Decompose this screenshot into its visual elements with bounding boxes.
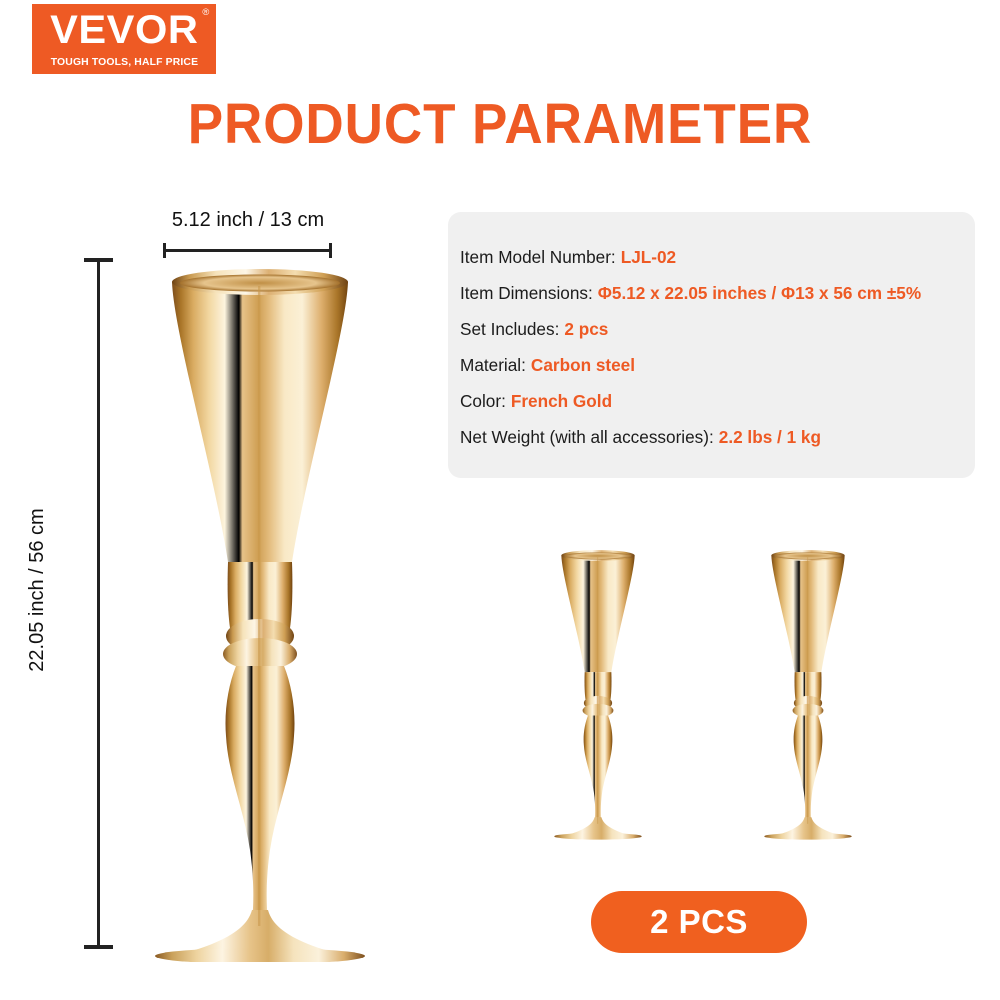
- small-vase-foot-base: [554, 833, 642, 840]
- spec-label-net-weight: Net Weight (with all accessories):: [460, 429, 714, 446]
- registered-trademark-icon: ®: [202, 8, 209, 17]
- spec-value-model: LJL-02: [621, 249, 676, 266]
- small-vase-seam: [807, 557, 808, 824]
- spec-value-material: Carbon steel: [531, 357, 635, 374]
- vase-center-seam: [258, 286, 260, 926]
- height-dimension-line: [97, 258, 100, 949]
- spec-label-material: Material:: [460, 357, 526, 374]
- small-vase-foot-base: [764, 833, 852, 840]
- brand-tagline: TOUGH TOOLS, HALF PRICE: [50, 56, 197, 68]
- spec-row-material: Material: Carbon steel: [460, 348, 975, 384]
- trumpet-vase-large: [140, 262, 380, 962]
- width-dimension-line: [163, 249, 332, 252]
- trumpet-vase-small-2: [758, 538, 858, 848]
- spec-row-dimensions: Item Dimensions: Φ5.12 x 22.05 inches / …: [460, 276, 975, 312]
- spec-value-color: French Gold: [511, 393, 612, 410]
- trumpet-vase-small-1: [548, 538, 648, 848]
- spec-value-dimensions: Φ5.12 x 22.05 inches / Φ13 x 56 cm ±5%: [598, 285, 921, 302]
- spec-value-set-includes: 2 pcs: [564, 321, 608, 338]
- brand-name-text: VEVOR: [50, 8, 198, 52]
- quantity-badge: 2 PCS: [591, 891, 807, 953]
- spec-label-dimensions: Item Dimensions:: [460, 285, 593, 302]
- brand-wordmark: VEVOR ®: [50, 10, 198, 50]
- spec-row-net-weight: Net Weight (with all accessories): 2.2 l…: [460, 420, 975, 456]
- spec-label-model: Item Model Number:: [460, 249, 616, 266]
- spec-label-set-includes: Set Includes:: [460, 321, 559, 338]
- spec-value-net-weight: 2.2 lbs / 1 kg: [719, 429, 821, 446]
- width-dimension-label: 5.12 inch / 13 cm: [113, 210, 383, 230]
- small-vase-seam: [597, 557, 598, 824]
- page-title: PRODUCT PARAMETER: [35, 96, 965, 153]
- specification-panel: Item Model Number: LJL-02 Item Dimension…: [448, 212, 975, 478]
- spec-row-model: Item Model Number: LJL-02: [460, 240, 975, 276]
- height-dimension-label: 22.05 inch / 56 cm: [27, 480, 47, 700]
- vase-foot-base: [155, 948, 365, 962]
- spec-label-color: Color:: [460, 393, 506, 410]
- spec-row-color: Color: French Gold: [460, 384, 975, 420]
- vevor-logo: VEVOR ® TOUGH TOOLS, HALF PRICE: [32, 4, 216, 74]
- spec-row-set-includes: Set Includes: 2 pcs: [460, 312, 975, 348]
